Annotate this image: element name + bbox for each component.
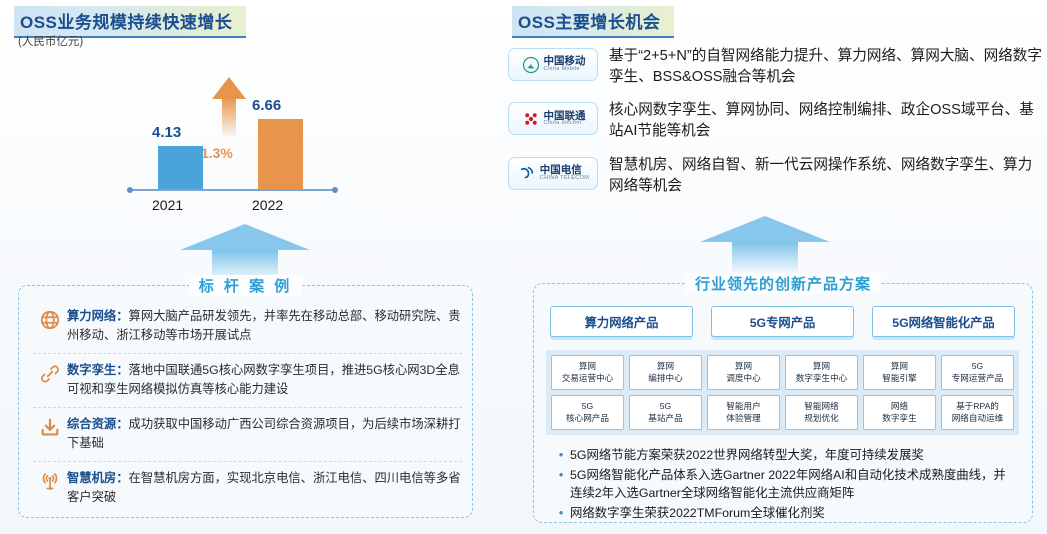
operator-opportunity-list: 中国移动 China Mobile 基于“2+5+N”的自智网络能力提升、算力网…: [508, 46, 1043, 209]
logo-name-en: China Mobile: [544, 67, 586, 73]
product-cell-line1: 算网: [735, 361, 752, 373]
product-cell-line2: 体验管理: [726, 413, 760, 425]
bullet-icon: •: [552, 446, 570, 465]
product-cell[interactable]: 算网 数字孪生中心: [785, 355, 858, 390]
product-cell[interactable]: 算网 编排中心: [629, 355, 702, 390]
list-item[interactable]: 算力网络：算网大脑产品研发领先，并率先在移动总部、移动研究院、贵州移动、浙江移动…: [33, 300, 462, 353]
product-category-0[interactable]: 算力网络产品: [550, 306, 693, 337]
list-item: • 5G网络节能方案荣获2022世界网络转型大奖，年度可持续发展奖: [552, 446, 1014, 465]
product-cell-line2: 编排中心: [648, 373, 682, 385]
bar-chart: +61.3% 4.13 6.66 2021 2022: [100, 52, 430, 217]
product-cell[interactable]: 算网 交易运营中心: [551, 355, 624, 390]
product-cell-line2: 数字孪生: [882, 413, 916, 425]
china-telecom-mark-icon: [517, 163, 537, 183]
logo-name-en: CHINA TELECOM: [540, 176, 590, 182]
award-text: 5G网络智能化产品体系入选Gartner 2022年网络AI和自动化技术成熟度曲…: [570, 466, 1014, 503]
list-item: • 5G网络智能化产品体系入选Gartner 2022年网络AI和自动化技术成熟…: [552, 466, 1014, 503]
product-cell-line1: 基于RPA的: [956, 401, 999, 413]
product-cell[interactable]: 网络 数字孪生: [863, 395, 936, 430]
bar-value-2022: 6.66: [252, 97, 281, 114]
product-cell-line1: 5G: [660, 401, 671, 413]
china-mobile-logo: 中国移动 China Mobile: [508, 48, 598, 81]
globe-icon: [33, 307, 67, 331]
list-item: • 网络数字孪生荣获2022TMForum全球催化剂奖: [552, 504, 1014, 523]
list-item[interactable]: 数字孪生：落地中国联通5G核心网数字孪生项目，推进5G核心网3D全息可视和孪生网…: [33, 353, 462, 407]
link-icon: [33, 361, 67, 385]
product-cell-line2: 智能引擎: [882, 373, 916, 385]
product-cell-line1: 智能网络: [804, 401, 838, 413]
benchmark-case-list: 算力网络：算网大脑产品研发领先，并率先在移动总部、移动研究院、贵州移动、浙江移动…: [33, 300, 462, 515]
china-mobile-mark-icon: [521, 55, 541, 75]
chart-unit-label: (人民币亿元): [18, 33, 83, 49]
product-cell-line2: 交易运营中心: [562, 373, 614, 385]
up-arrow-left-icon: [180, 224, 310, 282]
product-cell-line2: 数字孪生中心: [796, 373, 848, 385]
product-cell[interactable]: 5G 核心网产品: [551, 395, 624, 430]
operator-text: 核心网数字孪生、算网协同、网络控制编排、政企OSS域平台、基站AI节能等机会: [598, 100, 1043, 141]
logo-name-en: China unicom: [544, 121, 586, 127]
product-cell-line2: 规划优化: [804, 413, 838, 425]
bullet-icon: •: [552, 504, 570, 523]
axis-label-2021: 2021: [152, 197, 183, 213]
award-text: 5G网络节能方案荣获2022世界网络转型大奖，年度可持续发展奖: [570, 446, 924, 465]
download-icon: [33, 415, 67, 439]
innovative-products-panel: 行业领先的创新产品方案 算力网络产品 5G专网产品 5G网络智能化产品 算网 交…: [533, 283, 1033, 523]
product-cell-line1: 5G: [972, 361, 983, 373]
case-keyword: 数字孪生: [67, 363, 116, 377]
bullet-icon: •: [552, 466, 570, 503]
benchmark-cases-panel: 标 杆 案 例 算力网络：算网大脑产品研发领先，并率先在移动总部、移动研究院、贵…: [18, 285, 473, 518]
product-cell-line2: 专网运营产品: [952, 373, 1004, 385]
product-cell-line1: 算网: [579, 361, 596, 373]
product-cell-line1: 算网: [891, 361, 908, 373]
product-grid: 算网 交易运营中心 算网 编排中心 算网 调度中心 算网 数字孪生中心 算网 智…: [551, 355, 1014, 430]
bar-2022: [258, 119, 303, 191]
product-cell[interactable]: 5G 基站产品: [629, 395, 702, 430]
list-item[interactable]: 智慧机房：在智慧机房方面，实现北京电信、浙江电信、四川电信等多省客户突破: [33, 461, 462, 515]
list-item[interactable]: 中国联通 China unicom 核心网数字孪生、算网协同、网络控制编排、政企…: [508, 100, 1043, 141]
product-category-2[interactable]: 5G网络智能化产品: [872, 306, 1015, 337]
product-category-row: 算力网络产品 5G专网产品 5G网络智能化产品: [550, 306, 1015, 337]
china-unicom-mark-icon: [521, 109, 541, 129]
case-separator: ：: [116, 363, 128, 377]
product-cell-line1: 网络: [891, 401, 908, 413]
case-text: 综合资源：成功获取中国移动广西公司综合资源项目，为后续市场深耕打下基础: [67, 415, 462, 453]
case-keyword: 算力网络: [67, 309, 116, 323]
product-cell[interactable]: 5G 专网运营产品: [941, 355, 1014, 390]
growth-arrow-icon: [212, 77, 246, 137]
product-cell-line1: 5G: [582, 401, 593, 413]
product-cell-line1: 算网: [657, 361, 674, 373]
case-separator: ：: [116, 309, 128, 323]
operator-text: 智慧机房、网络自智、新一代云网操作系统、网络数字孪生、算力网络等机会: [598, 155, 1043, 196]
up-arrow-right-icon: [700, 216, 830, 274]
innovative-products-title: 行业领先的创新产品方案: [685, 273, 881, 294]
axis-label-2022: 2022: [252, 197, 283, 213]
bar-2021: [158, 146, 203, 191]
product-cell[interactable]: 算网 智能引擎: [863, 355, 936, 390]
bar-value-2021: 4.13: [152, 124, 181, 141]
product-category-1[interactable]: 5G专网产品: [711, 306, 854, 337]
product-cell[interactable]: 算网 调度中心: [707, 355, 780, 390]
product-cell-line2: 基站产品: [648, 413, 682, 425]
awards-list: • 5G网络节能方案荣获2022世界网络转型大奖，年度可持续发展奖 • 5G网络…: [552, 446, 1014, 524]
operator-text: 基于“2+5+N”的自智网络能力提升、算力网络、算网大脑、网络数字孪生、BSS&…: [598, 46, 1043, 87]
list-item[interactable]: 中国移动 China Mobile 基于“2+5+N”的自智网络能力提升、算力网…: [508, 46, 1043, 87]
product-cell-line2: 核心网产品: [566, 413, 609, 425]
chart-axis-line: [130, 189, 335, 191]
case-keyword: 综合资源: [67, 417, 116, 431]
china-unicom-logo: 中国联通 China unicom: [508, 102, 598, 135]
product-cell[interactable]: 智能用户 体验管理: [707, 395, 780, 430]
product-cell[interactable]: 智能网络 规划优化: [785, 395, 858, 430]
case-separator: ：: [116, 471, 128, 485]
case-text: 智慧机房：在智慧机房方面，实现北京电信、浙江电信、四川电信等多省客户突破: [67, 469, 462, 507]
product-cell-line1: 算网: [813, 361, 830, 373]
case-keyword: 智慧机房: [67, 471, 116, 485]
case-text: 算力网络：算网大脑产品研发领先，并率先在移动总部、移动研究院、贵州移动、浙江移动…: [67, 307, 462, 345]
list-item[interactable]: 综合资源：成功获取中国移动广西公司综合资源项目，为后续市场深耕打下基础: [33, 407, 462, 461]
product-cell-line2: 网络自动运维: [952, 413, 1004, 425]
case-separator: ：: [116, 417, 128, 431]
product-cell[interactable]: 基于RPA的 网络自动运维: [941, 395, 1014, 430]
benchmark-cases-title: 标 杆 案 例: [189, 275, 303, 296]
list-item[interactable]: 中国电信 CHINA TELECOM 智慧机房、网络自智、新一代云网操作系统、网…: [508, 155, 1043, 196]
product-grid-container: 算网 交易运营中心 算网 编排中心 算网 调度中心 算网 数字孪生中心 算网 智…: [546, 350, 1019, 435]
case-text: 数字孪生：落地中国联通5G核心网数字孪生项目，推进5G核心网3D全息可视和孪生网…: [67, 361, 462, 399]
product-cell-line2: 调度中心: [726, 373, 760, 385]
award-text: 网络数字孪生荣获2022TMForum全球催化剂奖: [570, 504, 825, 523]
product-cell-line1: 智能用户: [726, 401, 760, 413]
page-title-right: OSS主要增长机会: [512, 6, 674, 38]
china-telecom-logo: 中国电信 CHINA TELECOM: [508, 157, 598, 190]
signal-tower-icon: [33, 469, 67, 493]
